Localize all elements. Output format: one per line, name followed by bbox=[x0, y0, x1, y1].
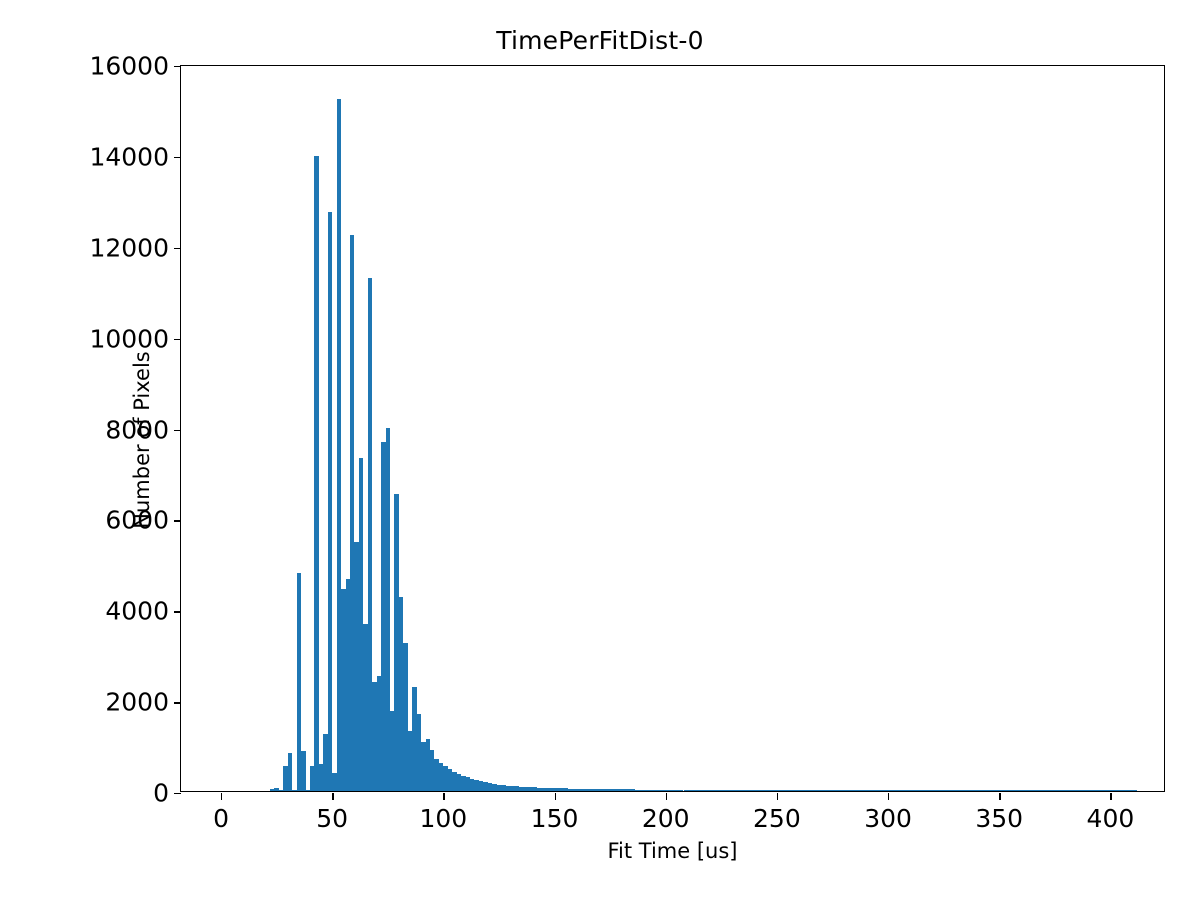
histogram-bar bbox=[301, 751, 305, 791]
x-tick-mark bbox=[777, 793, 778, 800]
x-tick-mark bbox=[221, 793, 222, 800]
histogram-bars bbox=[181, 66, 1164, 791]
y-tick-mark bbox=[174, 157, 181, 158]
y-tick-label: 16000 bbox=[89, 52, 169, 81]
x-tick-mark bbox=[1110, 793, 1111, 800]
x-tick-label: 350 bbox=[975, 804, 1023, 833]
x-tick-mark bbox=[999, 793, 1000, 800]
x-tick-mark bbox=[888, 793, 889, 800]
y-tick-label: 2000 bbox=[105, 688, 169, 717]
histogram-bar bbox=[314, 156, 318, 791]
histogram-bar bbox=[328, 212, 332, 791]
chart-title: TimePerFitDist-0 bbox=[0, 26, 1200, 55]
chart-figure: TimePerFitDist-0 05010015020025030035040… bbox=[0, 0, 1200, 900]
y-tick-mark bbox=[174, 66, 181, 67]
x-tick-label: 150 bbox=[531, 804, 579, 833]
y-tick-mark bbox=[174, 702, 181, 703]
x-axis-label: Fit Time [us] bbox=[180, 839, 1165, 863]
x-tick-label: 100 bbox=[420, 804, 468, 833]
plot-area: 050100150200250300350400 020004000600080… bbox=[180, 65, 1165, 792]
y-tick-label: 14000 bbox=[89, 142, 169, 171]
x-tick-label: 400 bbox=[1087, 804, 1135, 833]
y-tick-mark bbox=[174, 430, 181, 431]
x-tick-label: 50 bbox=[316, 804, 348, 833]
x-tick-label: 250 bbox=[753, 804, 801, 833]
y-axis-label: Number of Pixels bbox=[130, 290, 154, 590]
y-tick-mark bbox=[174, 793, 181, 794]
x-tick-label: 0 bbox=[213, 804, 229, 833]
y-tick-label: 12000 bbox=[89, 233, 169, 262]
x-tick-mark bbox=[666, 793, 667, 800]
y-tick-mark bbox=[174, 339, 181, 340]
x-tick-mark bbox=[443, 793, 444, 800]
y-tick-label: 4000 bbox=[105, 597, 169, 626]
histogram-bar bbox=[288, 753, 292, 791]
y-tick-mark bbox=[174, 248, 181, 249]
histogram-bar bbox=[1133, 790, 1137, 791]
x-tick-label: 300 bbox=[864, 804, 912, 833]
x-tick-label: 200 bbox=[642, 804, 690, 833]
y-tick-mark bbox=[174, 611, 181, 612]
y-tick-mark bbox=[174, 520, 181, 521]
x-tick-mark bbox=[555, 793, 556, 800]
y-tick-label: 0 bbox=[153, 779, 169, 808]
x-tick-mark bbox=[332, 793, 333, 800]
